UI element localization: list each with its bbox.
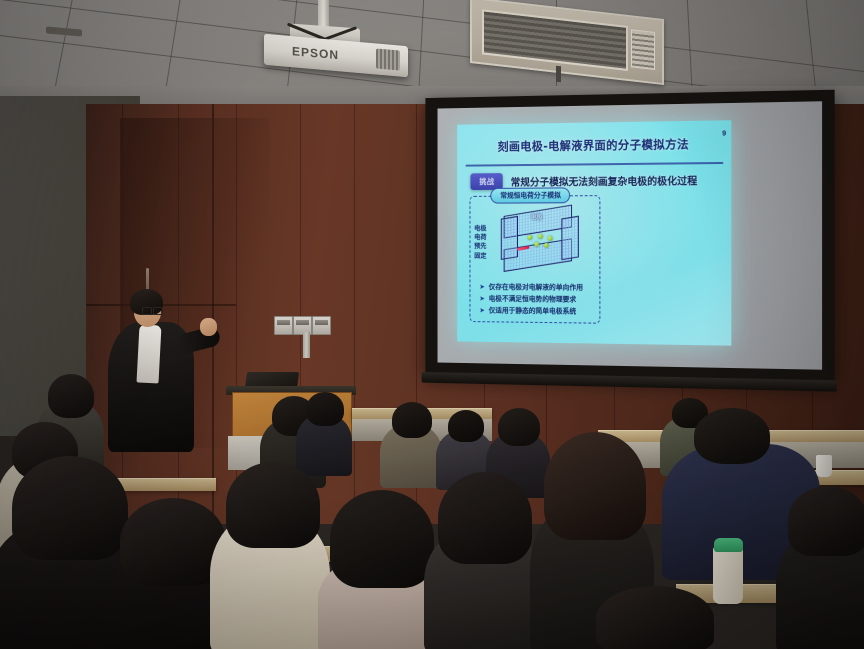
list-item-label: 电极不满足恒电势的物理要求 (489, 296, 577, 304)
slide-title-band: 刻画电极-电解液界面的分子模拟方法 (466, 127, 724, 163)
bullet-arrow-icon: ➤ (479, 284, 485, 291)
speaker-shirt (136, 324, 161, 383)
vertical-note-label: 电极电荷预先固定 (474, 224, 486, 260)
list-item-label: 仅存在电极对电解液的单向作用 (489, 284, 583, 292)
list-item: ➤ 仅存在电极对电解液的单向作用 (479, 284, 593, 292)
paper-cup (816, 455, 832, 477)
slide-title: 刻画电极-电解液界面的分子模拟方法 (498, 136, 689, 154)
light-switch-panel[interactable] (274, 316, 293, 335)
bullet-arrow-icon: ➤ (479, 308, 485, 315)
method-panel: 常规恒电荷分子模拟 电极电荷预先固定 电极 (469, 195, 600, 323)
switch-rocker (296, 320, 309, 325)
ac-side-vent (631, 29, 655, 70)
electrode-label: 电极 (531, 212, 543, 221)
presentation-slide: 刻画电极-电解液界面的分子模拟方法 9 挑战 常规分子模拟无法刻画复杂电极的极化… (458, 120, 732, 345)
switch-rocker (277, 320, 290, 325)
ac-sensor-drop (556, 66, 561, 83)
list-item-label: 仅适用于静态的简单电极系统 (489, 308, 577, 317)
screen-surface: 刻画电极-电解液界面的分子模拟方法 9 挑战 常规分子模拟无法刻画复杂电极的极化… (438, 101, 823, 369)
ion-particle (534, 242, 539, 247)
ion-particle (538, 234, 543, 239)
ion-particle (528, 235, 533, 240)
projector-vent-grille (376, 48, 400, 70)
slide-page-number: 9 (722, 130, 726, 137)
speaker-hand (200, 318, 217, 336)
list-item: ➤ 电极不满足恒电势的物理要求 (479, 296, 593, 305)
ion-particle (548, 236, 553, 241)
bullet-arrow-icon: ➤ (479, 296, 485, 303)
ac-grille (482, 9, 628, 71)
bottle-cap (714, 538, 743, 552)
electrode-lattice-diagram: 电极 (501, 209, 576, 269)
lattice-slab-right (561, 216, 578, 260)
switch-conduit (303, 332, 310, 358)
limitation-list: ➤ 仅存在电极对电解液的单向作用 ➤ 电极不满足恒电势的物理要求 ➤ 仅适用于静… (479, 284, 593, 321)
light-switch-panel[interactable] (312, 316, 331, 335)
challenge-headline: 常规分子模拟无法刻画复杂电极的极化过程 (511, 172, 698, 188)
ion-particle (544, 243, 549, 248)
projector-brand-label: EPSON (292, 44, 339, 62)
method-panel-caption: 常规恒电荷分子模拟 (491, 187, 571, 203)
switch-rocker (315, 320, 328, 325)
projection-screen: 刻画电极-电解液界面的分子模拟方法 9 挑战 常规分子模拟无法刻画复杂电极的极化… (425, 90, 834, 383)
list-item: ➤ 仅适用于静态的简单电极系统 (479, 308, 593, 317)
lattice-slab-left (501, 216, 518, 260)
water-bottle (713, 546, 743, 604)
speaker-glasses (142, 307, 162, 314)
lecture-hall-photo: EPSON 刻画电极-电解液界面的分子模拟方法 9 (0, 0, 864, 649)
